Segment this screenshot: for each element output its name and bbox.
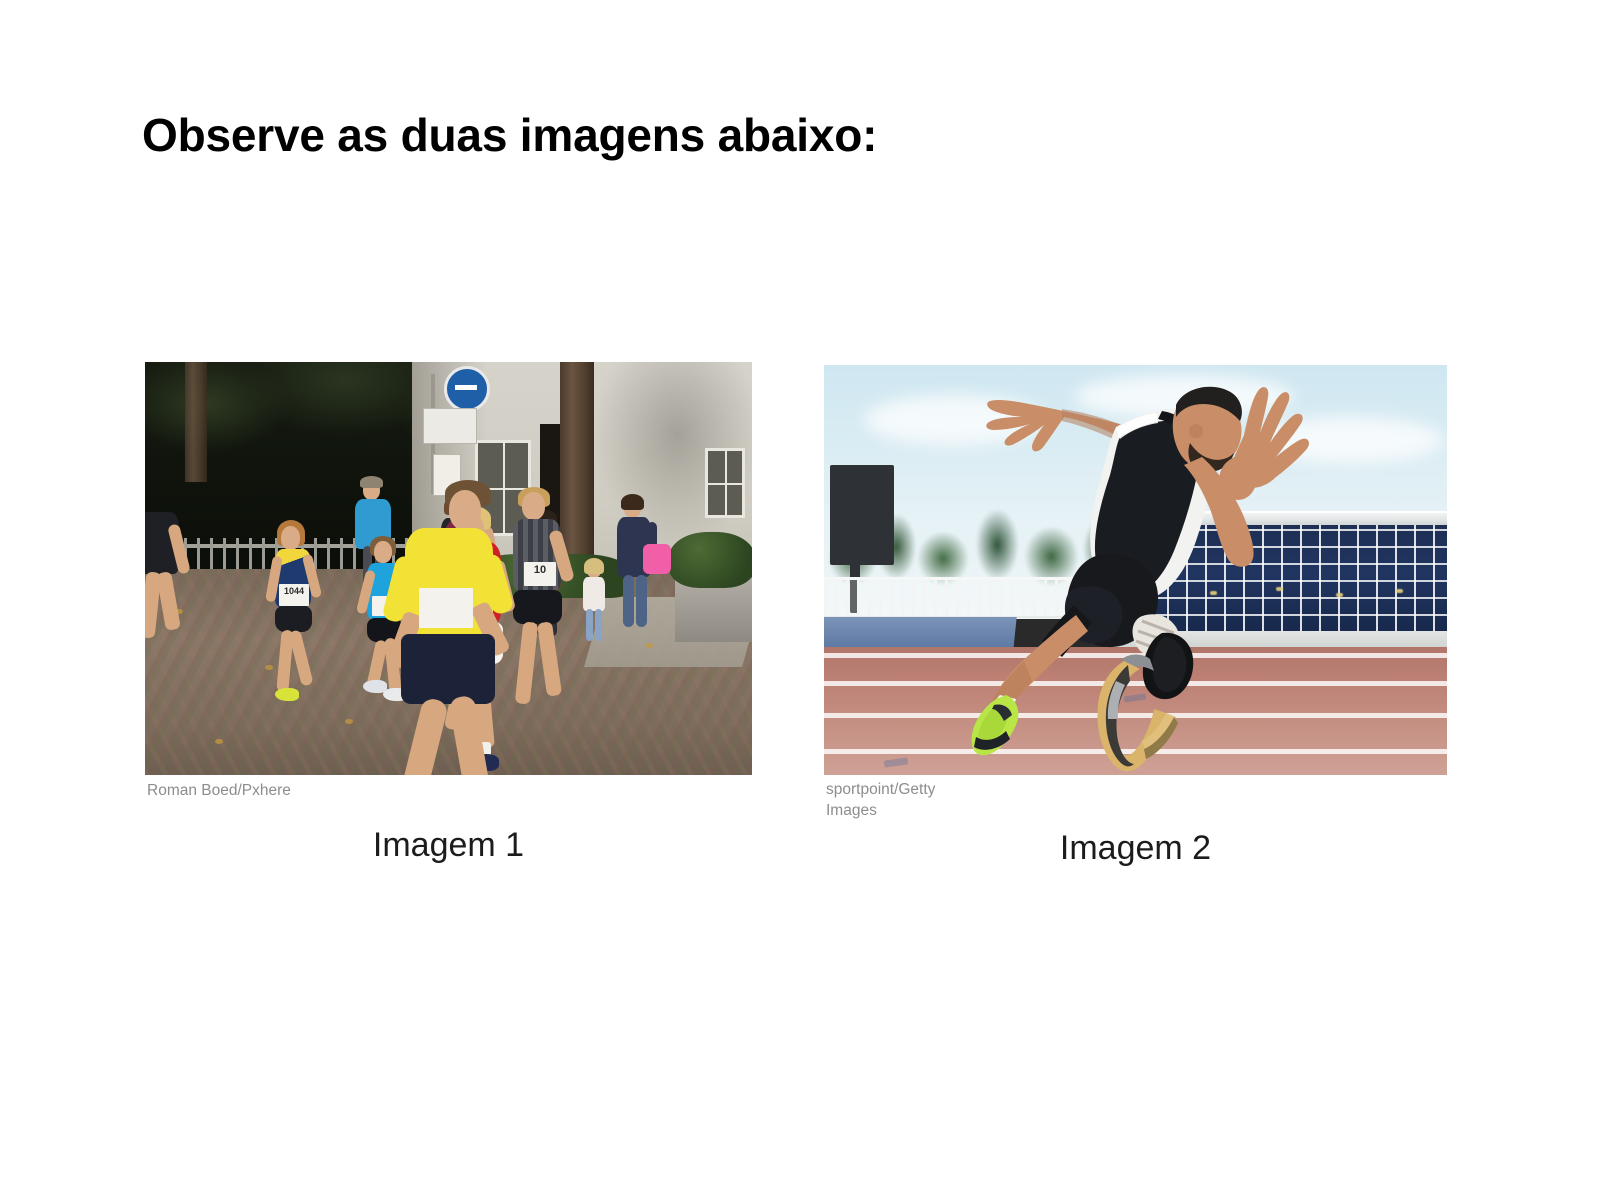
figure-caption-1: Imagem 1	[145, 826, 752, 865]
figure-imagem-1: 1044	[145, 362, 752, 775]
fallen-leaf	[265, 665, 273, 670]
page-title: Observe as duas imagens abaixo:	[142, 108, 877, 162]
race-bib	[419, 588, 473, 628]
fallen-leaf	[345, 719, 353, 724]
exception-sign	[423, 408, 477, 444]
photo-credit: sportpoint/Getty Images	[826, 780, 966, 822]
planter-bush	[669, 532, 752, 588]
photo-paralympic-sprinter	[824, 365, 1447, 775]
prosthetic-running-blade	[824, 365, 1447, 775]
no-entry-sign-icon	[444, 366, 490, 412]
sprinter-athlete	[824, 365, 1447, 775]
tree-trunk	[185, 362, 207, 482]
figure-caption-2: Imagem 2	[824, 829, 1447, 868]
fallen-leaf	[215, 739, 223, 744]
photo-road-race: 1044	[145, 362, 752, 775]
race-bib: 10	[524, 562, 556, 586]
race-bib: 1044	[279, 584, 309, 606]
photo-credit: Roman Boed/Pxhere	[147, 781, 567, 802]
figure-imagem-2: sportpoint/Getty Images Imagem 2	[824, 365, 1447, 775]
building-window	[705, 448, 745, 518]
fallen-leaf	[645, 643, 653, 648]
